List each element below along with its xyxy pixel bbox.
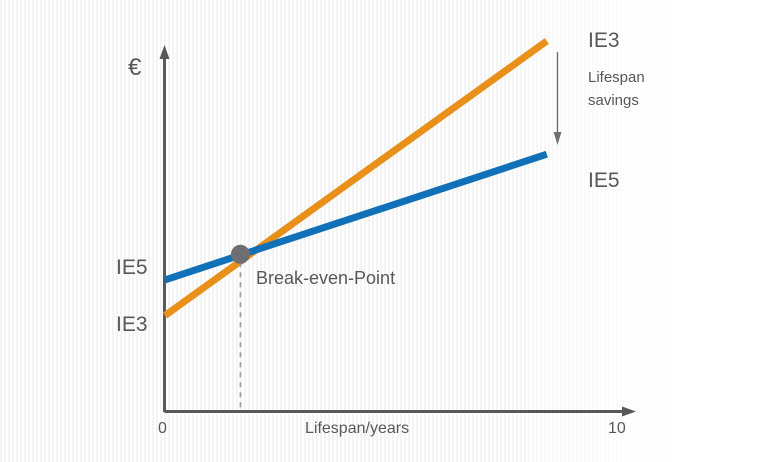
chart-canvas: € IE5 IE3 IE3 IE5 Lifespan savings Break… [0, 0, 770, 462]
savings-arrow-head [554, 132, 562, 145]
series-end-label-ie5: IE5 [588, 168, 620, 194]
chart-plot-area [0, 0, 770, 462]
break-even-marker [231, 245, 250, 264]
y-axis-label: € [128, 53, 141, 82]
x-axis [165, 407, 637, 417]
series-start-label-ie3: IE3 [116, 312, 148, 338]
y-axis [160, 45, 170, 412]
x-axis-tick-max: 10 [608, 419, 626, 439]
y-axis-arrowhead [160, 45, 170, 59]
x-axis-title: Lifespan/years [305, 419, 409, 439]
lifespan-savings-arrow [554, 52, 562, 145]
break-even-label: Break-even-Point [256, 268, 395, 290]
lifespan-savings-note-line1: Lifespan [588, 69, 645, 87]
x-axis-tick-min: 0 [158, 419, 167, 439]
series-end-label-ie3: IE3 [588, 28, 620, 54]
x-axis-arrowhead [622, 407, 636, 417]
series-line-ie5 [165, 154, 547, 280]
lifespan-savings-note-line2: savings [588, 92, 639, 110]
series-start-label-ie5: IE5 [116, 255, 148, 281]
